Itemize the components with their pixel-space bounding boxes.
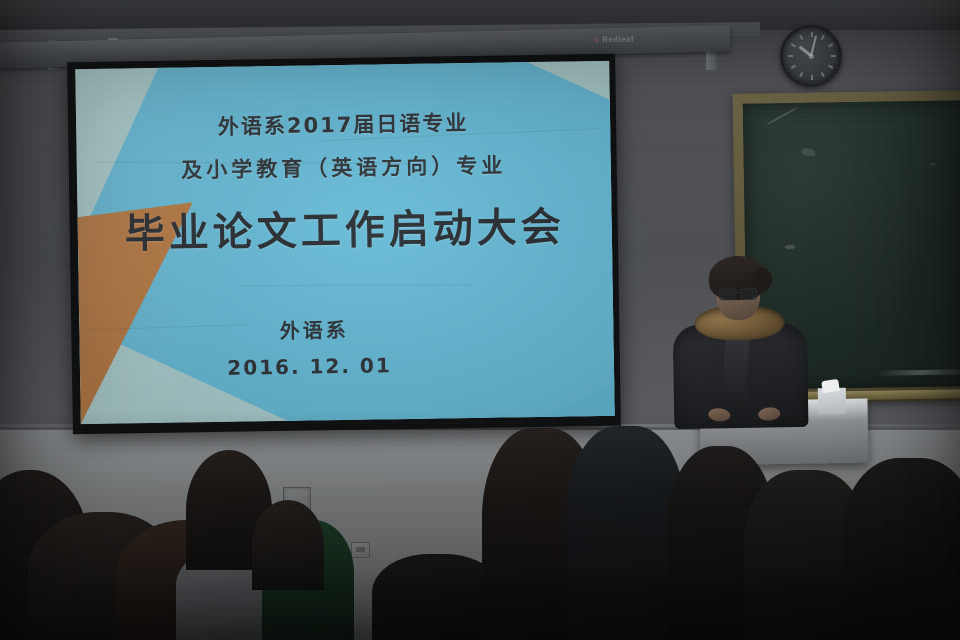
slide-department: 外语系 [75,310,581,347]
audience-person [252,500,324,590]
slide-subtitle-line-2: 及小学教育（英语方向）专业 [77,148,611,186]
glasses-icon [719,288,757,299]
chalk-mark [801,147,816,157]
clock-center-pin [809,54,814,59]
presenter-coat-lapel [721,334,750,407]
projected-slide: 外语系2017届日语专业 及小学教育（英语方向）专业 毕业论文工作启动大会 外语… [75,61,615,424]
presenter [664,257,815,430]
screen-brand-text: Redleaf [602,35,634,45]
power-outlet[interactable] [351,542,370,558]
chalk-mark [767,107,798,125]
chalk-mark [930,163,936,166]
slide-text-block: 外语系2017届日语专业 及小学教育（英语方向）专业 毕业论文工作启动大会 外语… [75,61,615,424]
classroom-photo: Redleaf 外语系2017届日语专业 及小学教育（英语方向）专业 毕业论文工… [0,0,960,640]
projection-screen: 外语系2017届日语专业 及小学教育（英语方向）专业 毕业论文工作启动大会 外语… [67,54,621,435]
slide-headline: 毕业论文工作启动大会 [77,194,612,260]
slide-date: 2016. 12. 01 [75,351,576,383]
screen-brand-label: Redleaf [595,35,634,45]
slide-subtitle-line-1: 外语系2017届日语专业 [76,105,610,143]
tissue-sheet [821,379,840,393]
audience-person [842,458,960,640]
wall-clock-icon [780,25,842,87]
chalk-mark [785,245,795,249]
chalk-dust [877,369,960,375]
